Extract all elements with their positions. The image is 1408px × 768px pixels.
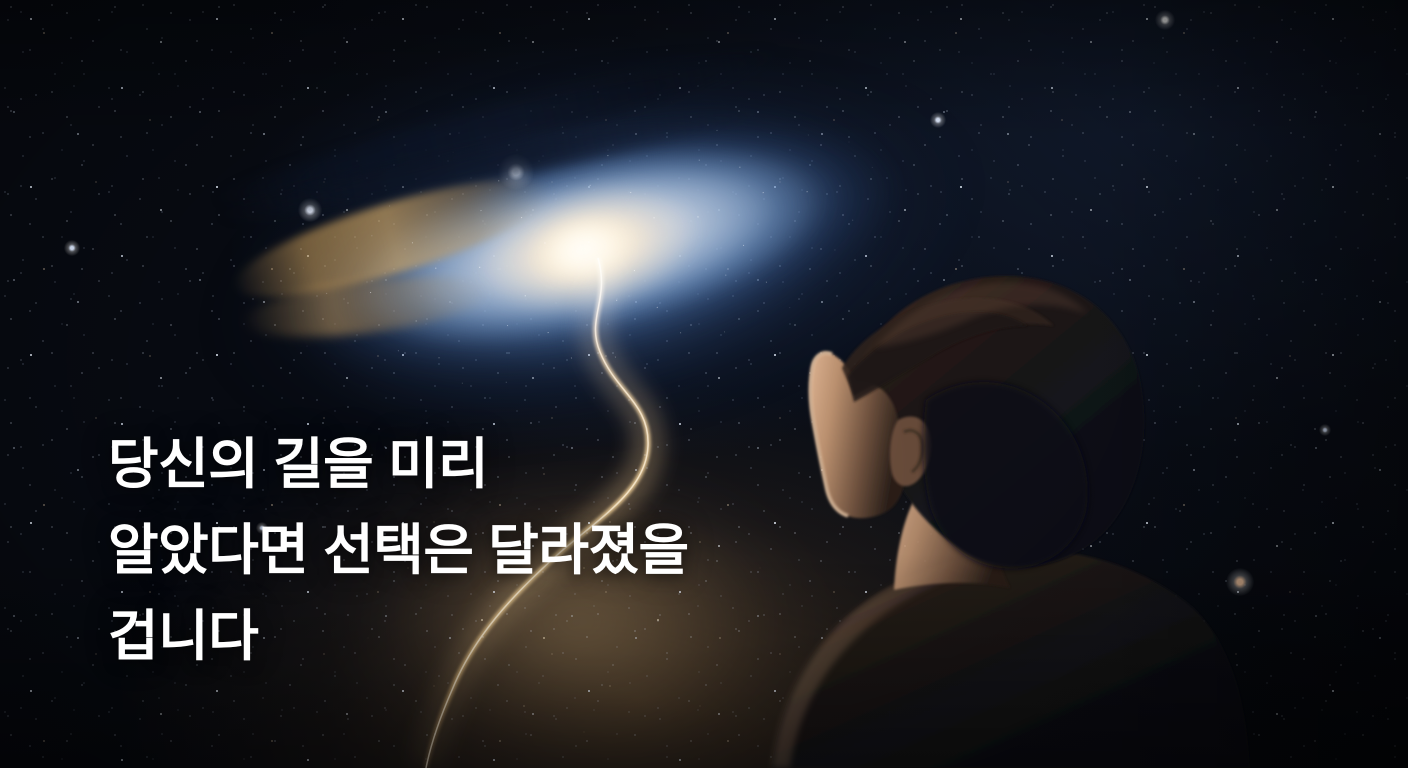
headline-line-3: 겁니다 — [108, 593, 868, 679]
headline-line-2: 알았다면 선택은 달라졌을 — [108, 507, 868, 593]
bright-star-9 — [1319, 424, 1331, 436]
hero-banner: 당신의 길을 미리알았다면 선택은 달라졌을겁니다 — [0, 0, 1408, 768]
bright-star-6 — [64, 240, 80, 256]
headline-line-1: 당신의 길을 미리 — [108, 421, 868, 507]
page-title: 당신의 길을 미리알았다면 선택은 달라졌을겁니다 — [108, 421, 868, 679]
bright-star-4 — [1155, 10, 1175, 30]
